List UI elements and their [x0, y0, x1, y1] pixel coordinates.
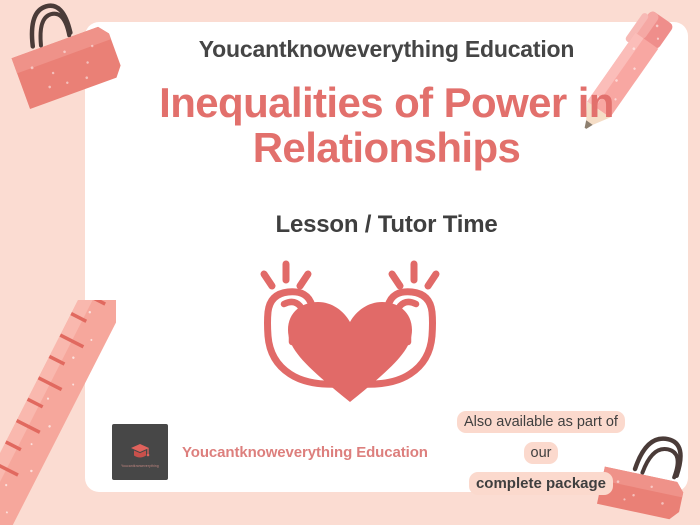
motion-line	[392, 274, 400, 286]
callout-text-2: our	[524, 442, 559, 464]
callout-line-1: Also available as part of	[443, 410, 639, 434]
page-subtitle: Lesson / Tutor Time	[85, 211, 688, 239]
callout-line-2: our	[443, 441, 639, 465]
graduation-cap-icon	[129, 441, 151, 463]
callout-text-3: complete package	[469, 472, 613, 495]
page-title-line1: Inequalities of Power in	[95, 80, 678, 125]
flexing-heart-icon	[248, 256, 452, 406]
callout-text-1: Also available as part of	[457, 411, 625, 433]
motion-line	[300, 274, 308, 286]
page-title-line2: Relationships	[95, 125, 678, 170]
page-eyebrow: Youcantknoweverything Education	[85, 36, 688, 63]
footer-logo: Youcantknoweverything Youcantknoweveryth…	[112, 424, 428, 480]
poster-canvas: Youcantknoweverything Education Inequali…	[0, 0, 700, 525]
callout-box: Also available as part of our complete p…	[443, 410, 639, 496]
ruler-icon	[0, 300, 116, 525]
page-title: Inequalities of Power in Relationships	[95, 80, 678, 170]
logo-text: Youcantknoweverything Education	[182, 444, 428, 461]
heart-shape	[288, 302, 412, 402]
logo-badge: Youcantknoweverything	[112, 424, 168, 480]
callout-line-3: complete package	[443, 472, 639, 496]
motion-line	[428, 274, 436, 286]
motion-line	[264, 274, 272, 286]
logo-badge-microtext: Youcantknoweverything	[112, 464, 168, 468]
